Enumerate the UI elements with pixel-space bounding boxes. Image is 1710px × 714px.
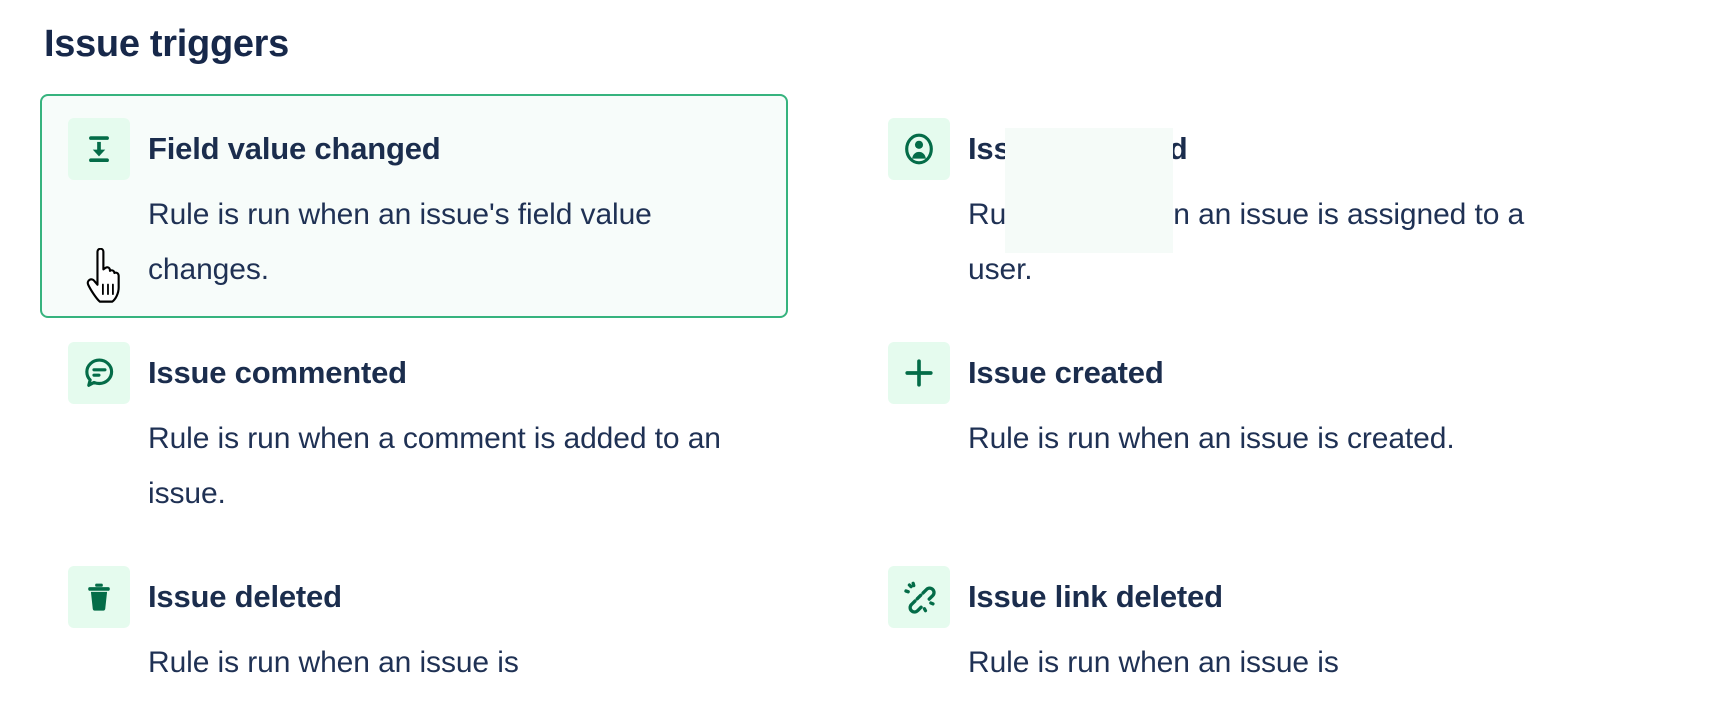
- card-header: Issue deleted: [68, 566, 832, 628]
- card-header: Issue created: [888, 342, 1652, 404]
- card-header: Issue link deleted: [888, 566, 1652, 628]
- field-value-changed-icon: [68, 118, 130, 180]
- trigger-description: Rule is run when an issue is: [148, 636, 768, 691]
- trigger-description: Rule is run when an issue is assigned to…: [968, 188, 1588, 298]
- card-header: Issue commented: [68, 342, 832, 404]
- trigger-title: Issue link deleted: [968, 566, 1223, 628]
- trigger-card-issue-link-deleted[interactable]: Issue link deleted Rule is run when an i…: [860, 542, 1680, 714]
- trigger-description: Rule is run when an issue is: [968, 636, 1588, 691]
- trigger-card-grid: Field value changed Rule is run when an …: [40, 94, 1680, 714]
- issue-assigned-icon: [888, 118, 950, 180]
- trigger-title: Issue commented: [148, 342, 407, 404]
- trigger-description: Rule is run when an issue's field value …: [148, 188, 760, 298]
- trigger-title: Field value changed: [148, 118, 441, 180]
- trigger-description: Rule is run when an issue is created.: [968, 412, 1588, 467]
- card-header: Field value changed: [68, 118, 760, 180]
- page-title: Issue triggers: [44, 22, 289, 68]
- trigger-title: Issue deleted: [148, 566, 342, 628]
- trigger-card-field-value-changed[interactable]: Field value changed Rule is run when an …: [40, 94, 788, 318]
- trigger-card-issue-assigned[interactable]: Issue assigned Rule is run when an issue…: [860, 94, 1680, 318]
- trigger-title: Issue assigned: [968, 118, 1187, 180]
- trigger-title: Issue created: [968, 342, 1164, 404]
- trigger-description: Rule is run when a comment is added to a…: [148, 412, 768, 522]
- issue-triggers-panel: Issue triggers Field value changed Rule …: [0, 0, 1710, 714]
- trash-icon: [68, 566, 130, 628]
- broken-link-icon: [888, 566, 950, 628]
- issue-commented-icon: [68, 342, 130, 404]
- card-header: Issue assigned: [888, 118, 1652, 180]
- trigger-card-issue-commented[interactable]: Issue commented Rule is run when a comme…: [40, 318, 860, 542]
- issue-created-icon: [888, 342, 950, 404]
- trigger-card-issue-created[interactable]: Issue created Rule is run when an issue …: [860, 318, 1680, 542]
- trigger-card-issue-deleted[interactable]: Issue deleted Rule is run when an issue …: [40, 542, 860, 714]
